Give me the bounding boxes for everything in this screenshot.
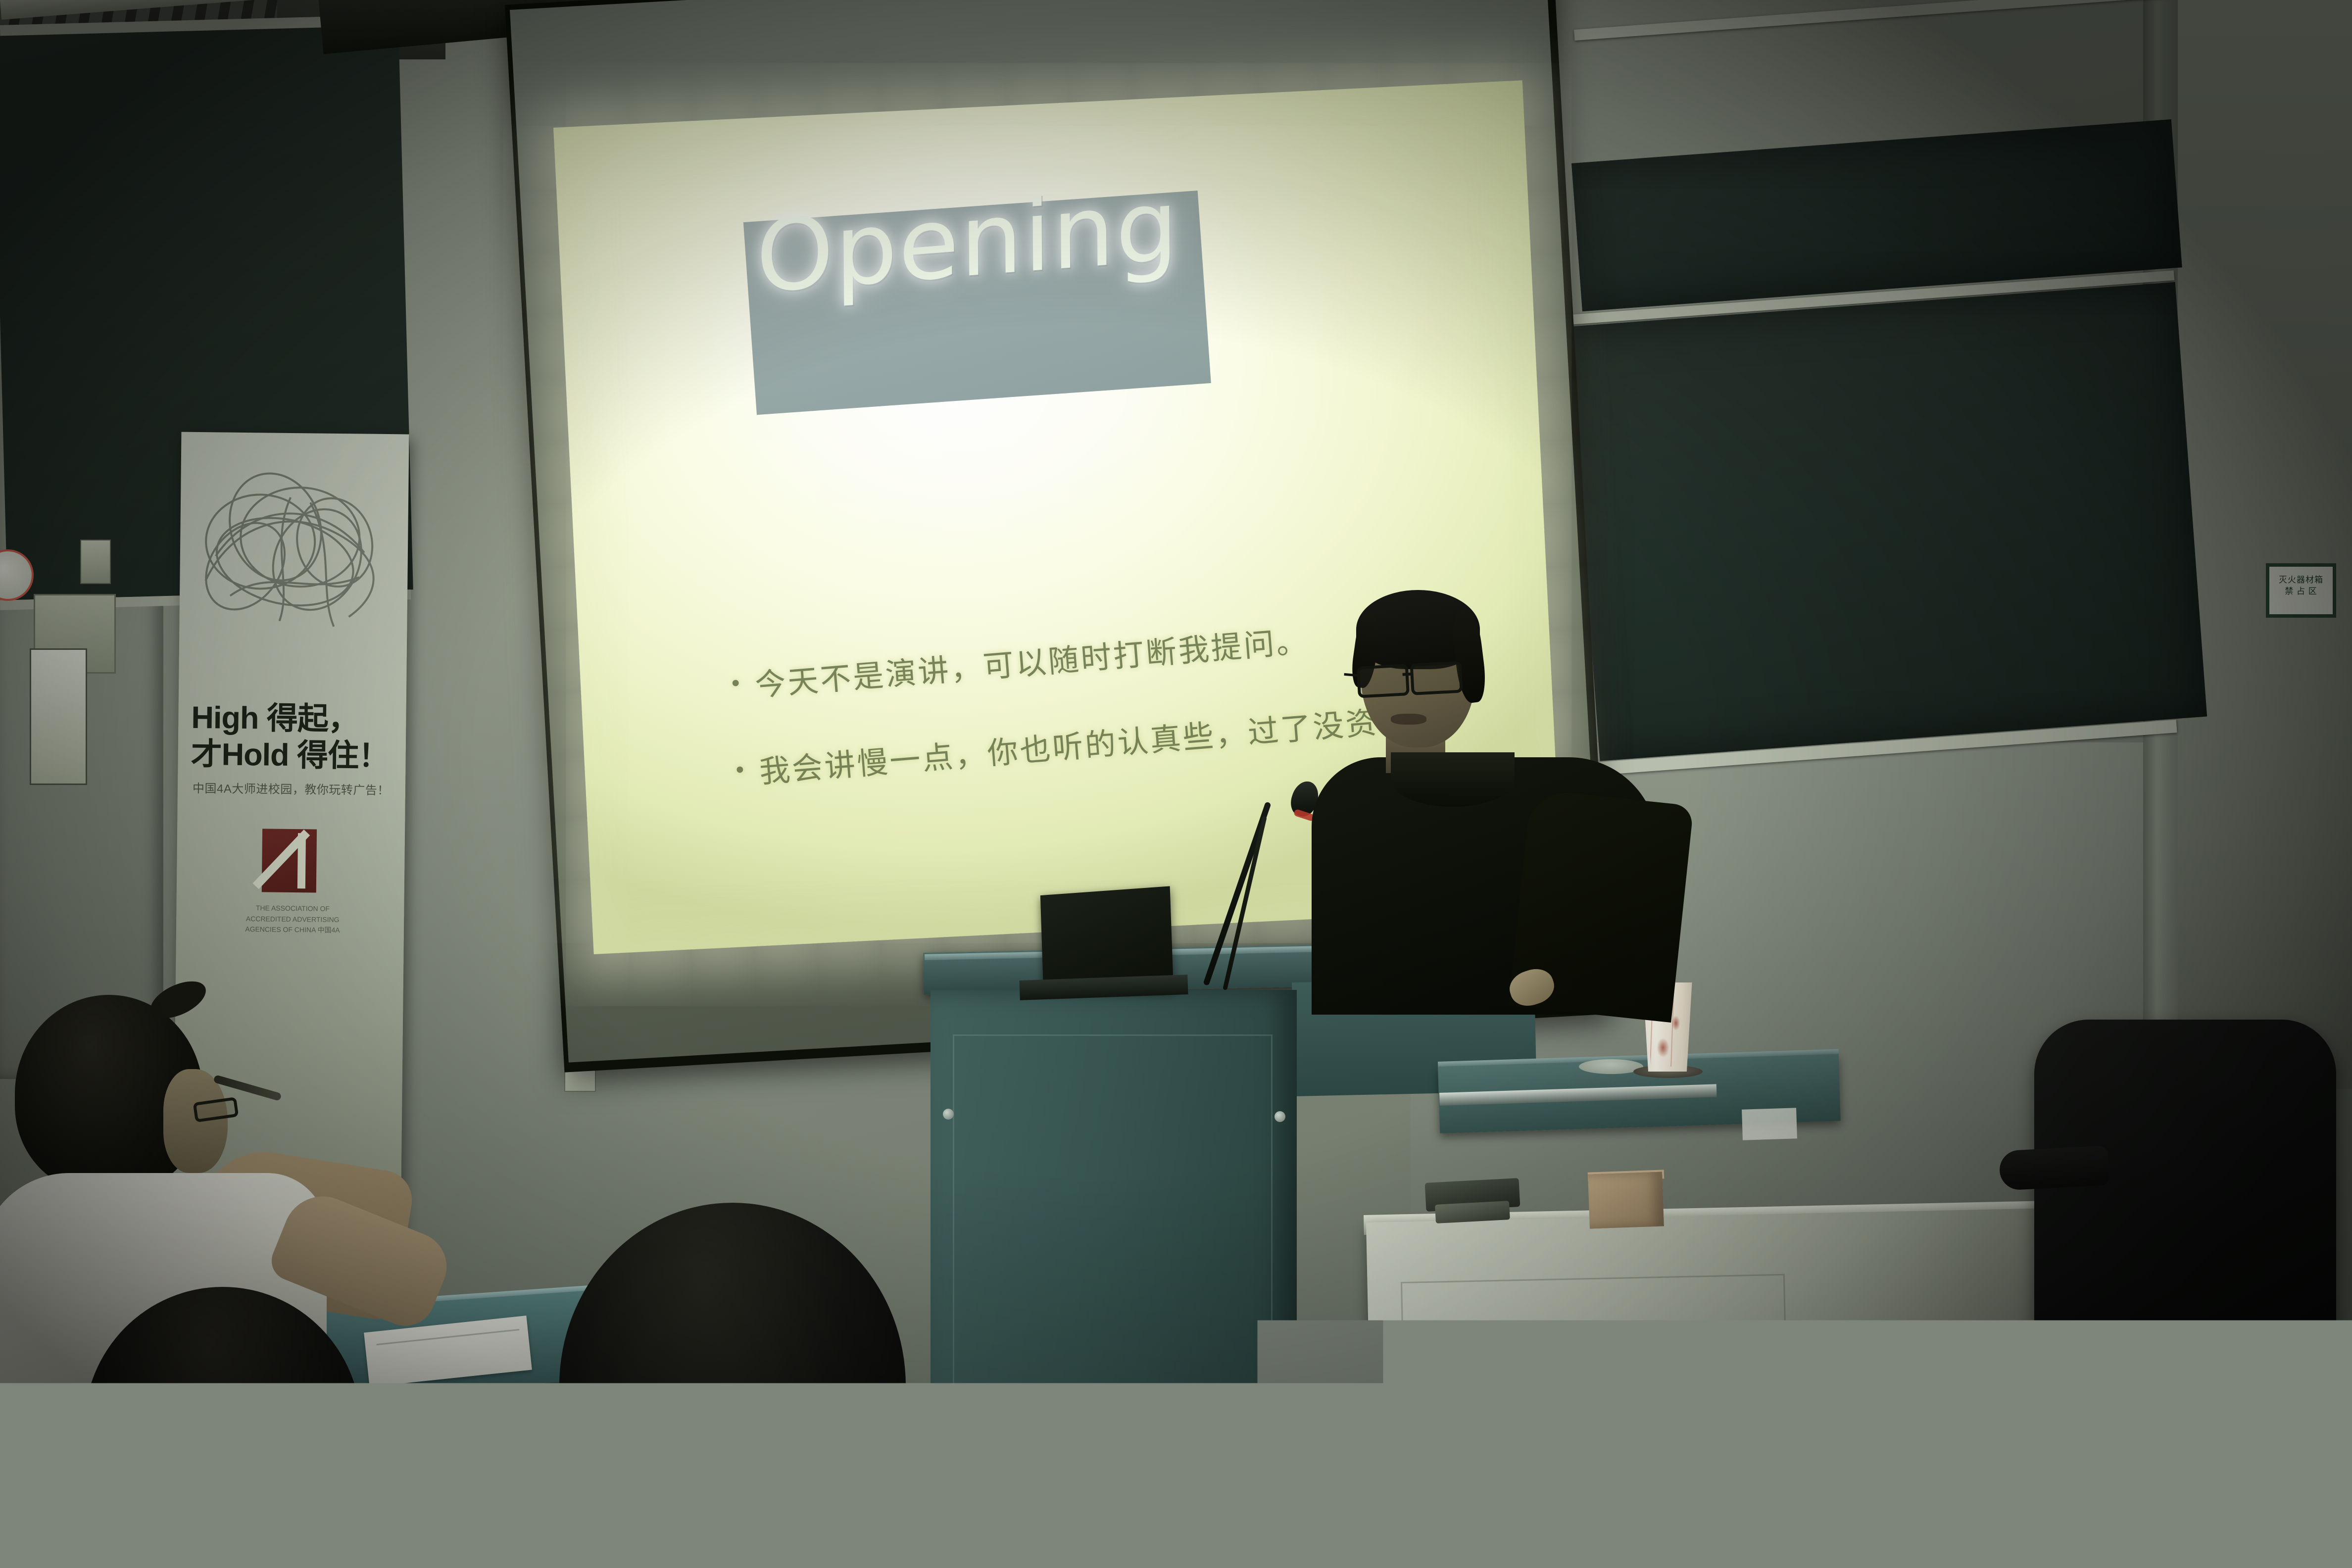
podium-knob-left (943, 1109, 954, 1120)
slide-bullet-item: • 今天不是演讲，可以随时打断我提问。 (728, 622, 1310, 706)
banner-logo-caption: THE ASSOCIATION OF ACCREDITED ADVERTISIN… (236, 903, 350, 936)
far-right-wall (2168, 0, 2352, 1089)
remote-control-secondary[interactable] (1435, 1201, 1510, 1224)
presenter-mouth (1391, 714, 1426, 725)
slide-bullet-text: 今天不是演讲，可以随时打断我提问。 (754, 622, 1311, 704)
drawer-label-sticker (1742, 1108, 1797, 1140)
presenter-collar (1391, 752, 1515, 807)
four-a-logo-icon (262, 829, 317, 892)
tangled-scribble-icon (185, 467, 404, 633)
banner-headline: High 得起， 才Hold 得住！ (191, 699, 394, 775)
wall-document-holder (30, 648, 87, 785)
fire-equipment-wall-sign: 灭火器材箱 禁 占 区 (2266, 563, 2336, 618)
banner-subtitle: 中国4A大师进校园，教你玩转广告！ (193, 779, 391, 798)
office-chair-post (2148, 1430, 2193, 1568)
wall-sign-line-1: 灭火器材箱 (2269, 575, 2333, 586)
cabinet-knob[interactable] (1812, 1500, 1824, 1513)
banner-headline-line-2: 才Hold 得住！ (191, 736, 394, 775)
lens-right (1410, 661, 1463, 695)
banner-headline-line-1: High 得起， (191, 699, 394, 738)
wall-small-sign (80, 539, 111, 584)
bullet-marker-icon: • (733, 754, 750, 787)
office-chair-seat[interactable] (2014, 1331, 2341, 1445)
presenter (1307, 584, 1683, 1010)
cardboard-box (1588, 1172, 1664, 1228)
laptop-screen[interactable] (1040, 886, 1174, 990)
logo-bar (297, 833, 306, 888)
classroom-scene: 灭火器材箱 禁 占 区 Opening • 今天不是演讲，可以随时打断我提问。 … (0, 0, 2352, 1568)
wall-sign-line-2: 禁 占 区 (2269, 586, 2333, 597)
podium-front-panel (953, 1034, 1273, 1483)
audience-hand (881, 1462, 966, 1568)
audience-face (163, 1069, 228, 1173)
glasses-bridge (1403, 673, 1412, 676)
audience-head (559, 1203, 906, 1568)
office-chair-armrest[interactable] (1999, 1145, 2109, 1190)
cabinet-handle[interactable] (1421, 1430, 1428, 1465)
bullet-marker-icon: • (728, 667, 745, 701)
office-chair-back[interactable] (2034, 1020, 2336, 1366)
podium-knob-right (1274, 1111, 1285, 1122)
lens-left (1357, 664, 1410, 698)
